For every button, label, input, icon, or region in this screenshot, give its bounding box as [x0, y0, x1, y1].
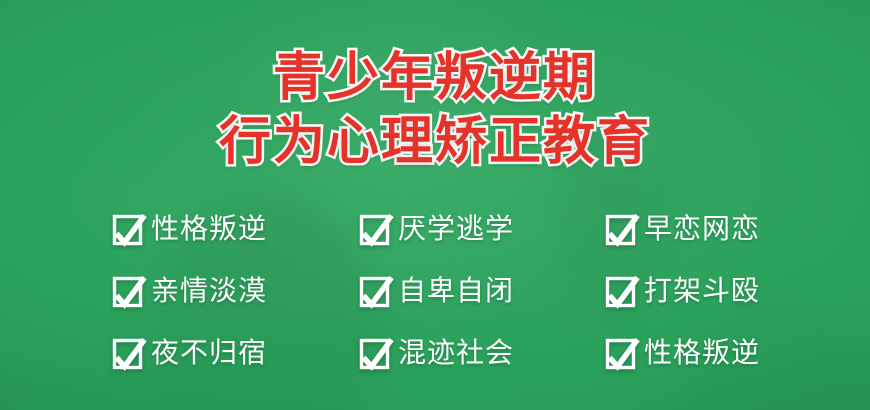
checked-checkbox-icon	[359, 276, 389, 307]
checklist: 性格叛逆厌学逃学早恋网恋亲情淡漠自卑自闭打架斗殴夜不归宿混迹社会性格叛逆	[112, 198, 870, 384]
checked-checkbox-icon	[112, 276, 142, 307]
checked-checkbox-icon	[605, 214, 635, 245]
headline-line-2: 行为心理矫正教育	[0, 116, 870, 168]
checklist-item[interactable]: 性格叛逆	[112, 206, 359, 252]
checklist-item[interactable]: 性格叛逆	[605, 330, 855, 376]
checked-checkbox-icon	[605, 276, 635, 307]
checklist-item-label: 亲情淡漠	[151, 277, 267, 305]
checklist-item[interactable]: 混迹社会	[359, 330, 605, 376]
checklist-item-label: 打架斗殴	[644, 277, 760, 305]
checklist-item[interactable]: 厌学逃学	[359, 206, 605, 252]
checked-checkbox-icon	[605, 338, 635, 369]
checklist-item-label: 早恋网恋	[644, 215, 760, 243]
checklist-item-label: 自卑自闭	[398, 277, 514, 305]
checklist-item-label: 性格叛逆	[151, 215, 267, 243]
checklist-item-label: 混迹社会	[398, 339, 514, 367]
checked-checkbox-icon	[359, 214, 389, 245]
checklist-item[interactable]: 亲情淡漠	[112, 268, 359, 314]
checked-checkbox-icon	[112, 214, 142, 245]
checklist-item[interactable]: 夜不归宿	[112, 330, 359, 376]
checked-checkbox-icon	[359, 338, 389, 369]
checklist-item[interactable]: 早恋网恋	[605, 206, 855, 252]
promo-banner: 青少年叛逆期 行为心理矫正教育 性格叛逆厌学逃学早恋网恋亲情淡漠自卑自闭打架斗殴…	[0, 0, 870, 410]
checklist-item-label: 夜不归宿	[151, 339, 267, 367]
banner-content: 青少年叛逆期 行为心理矫正教育 性格叛逆厌学逃学早恋网恋亲情淡漠自卑自闭打架斗殴…	[0, 0, 870, 410]
checklist-item-label: 厌学逃学	[398, 215, 514, 243]
checklist-item[interactable]: 打架斗殴	[605, 268, 855, 314]
checklist-item[interactable]: 自卑自闭	[359, 268, 605, 314]
checked-checkbox-icon	[112, 338, 142, 369]
headline: 青少年叛逆期 行为心理矫正教育	[0, 52, 870, 168]
checklist-item-label: 性格叛逆	[644, 339, 760, 367]
headline-line-1: 青少年叛逆期	[0, 52, 870, 104]
